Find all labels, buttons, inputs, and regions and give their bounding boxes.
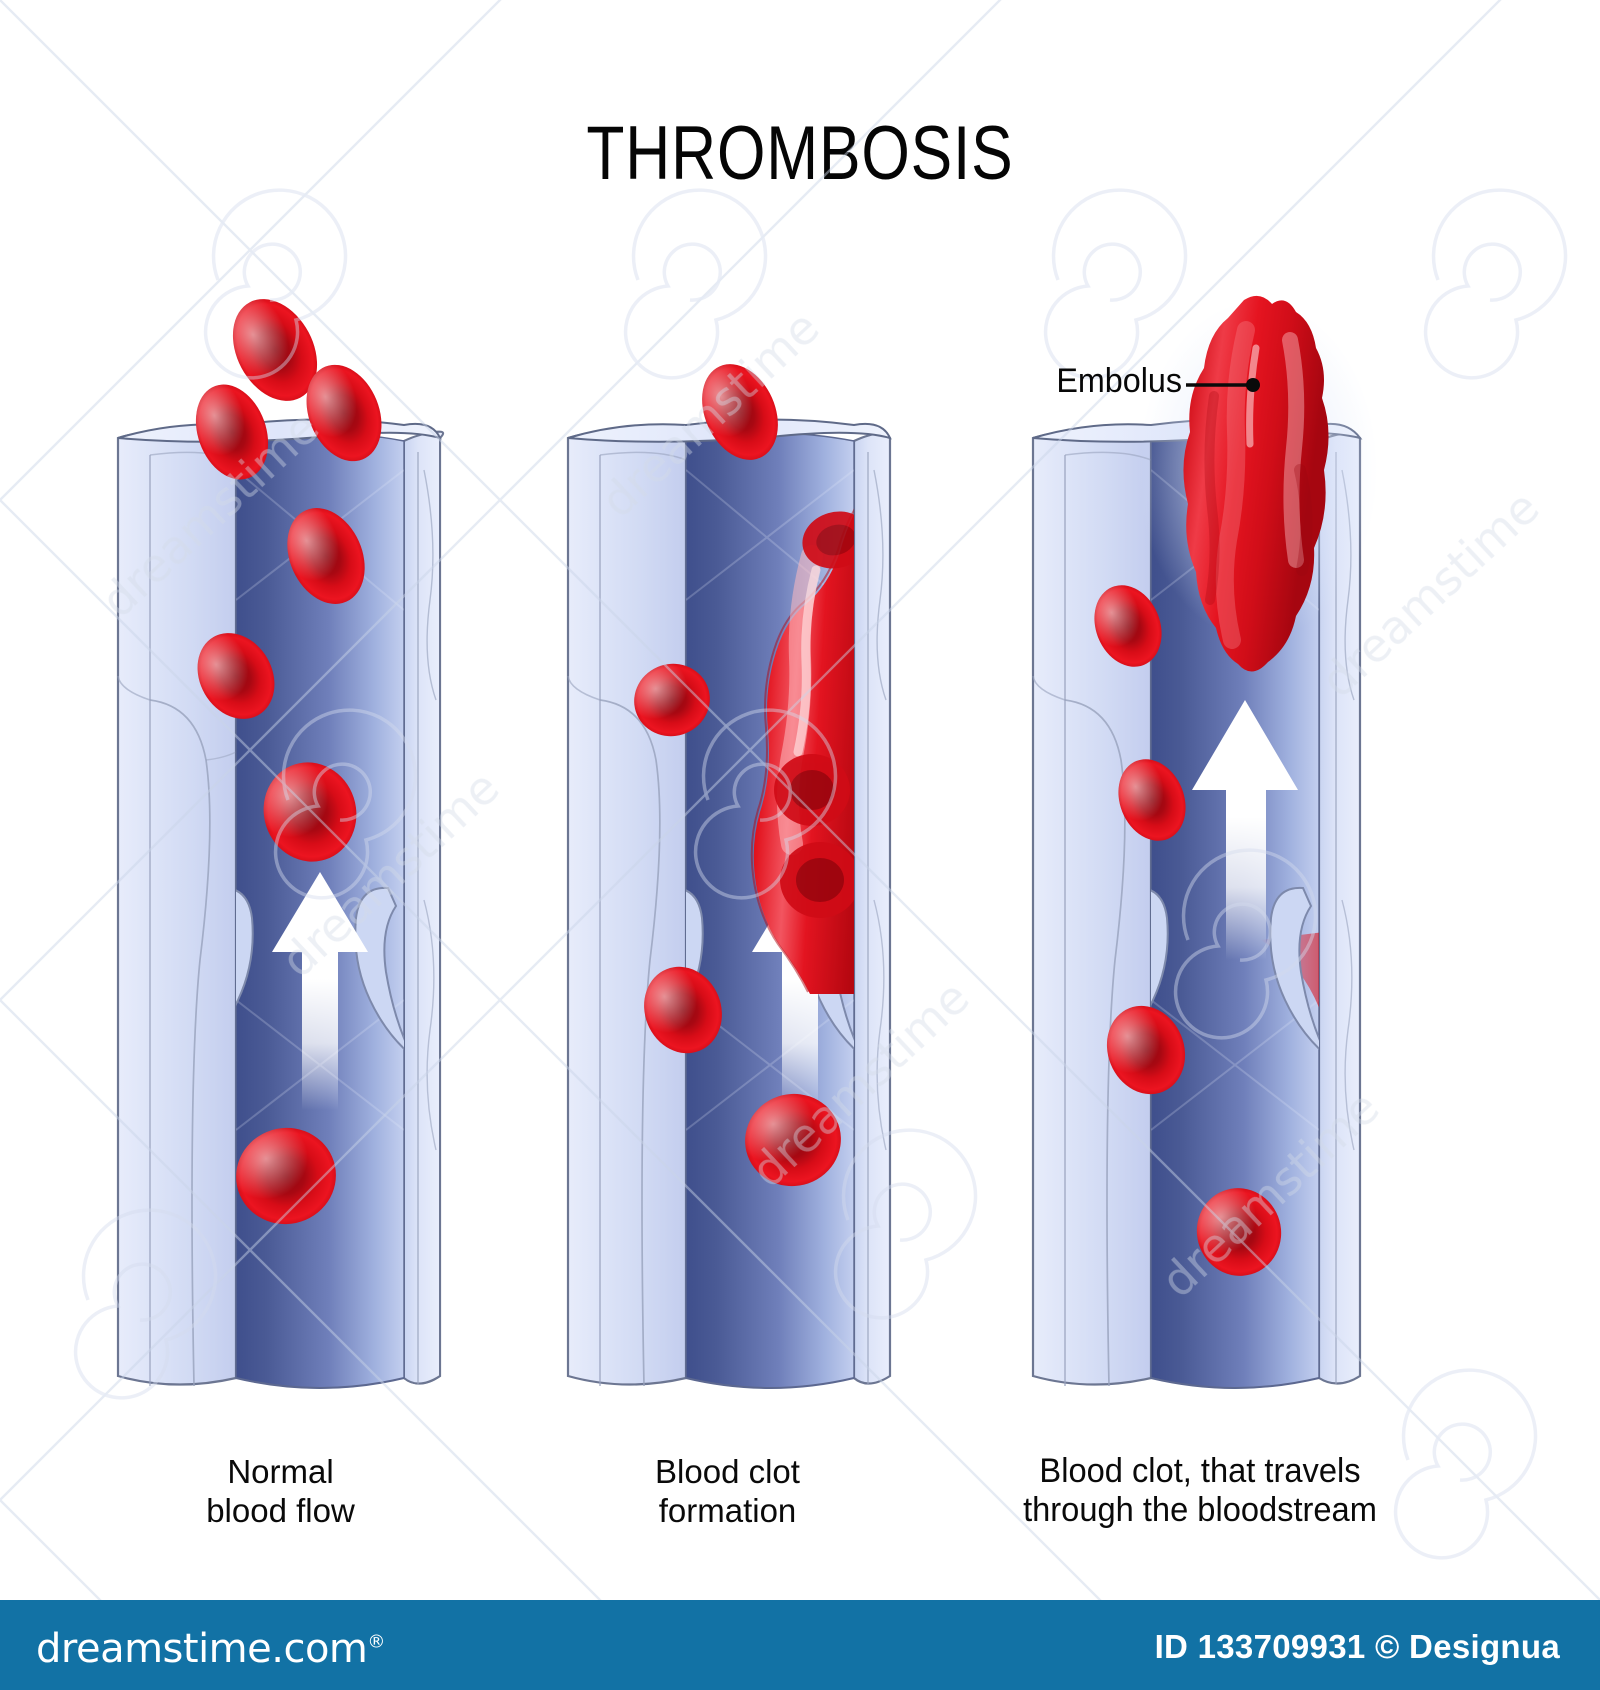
- vessel-wall-left: [1033, 430, 1151, 1386]
- caption-normal-blood-flow: Normal blood flow: [118, 1452, 443, 1530]
- panel-normal-blood-flow: [118, 284, 443, 1388]
- embolus-label: Embolus: [1030, 362, 1182, 401]
- vessel-wall-left: [118, 430, 236, 1386]
- illustration-canvas: THROMBOSIS: [0, 0, 1600, 1690]
- caption-blood-clot-formation: Blood clot formation: [565, 1452, 890, 1530]
- panel-embolus-travelling: [1033, 296, 1378, 1388]
- panel-blood-clot-formation: [568, 352, 890, 1388]
- thrombosis-diagram: [0, 0, 1600, 1600]
- vessel-wall-left: [568, 430, 686, 1386]
- dreamstime-logo[interactable]: dreamstime.com®: [36, 1626, 385, 1672]
- vessel-wall-right: [854, 434, 890, 1384]
- dreamstime-logo-text: dreamstime.com: [36, 1626, 367, 1672]
- caption-embolus-travelling: Blood clot, that travels through the blo…: [1018, 1452, 1383, 1530]
- vessel-wall-right: [404, 432, 443, 1384]
- image-credit: ID 133709931 © Designua: [1155, 1628, 1560, 1666]
- registered-mark-icon: ®: [367, 1632, 385, 1653]
